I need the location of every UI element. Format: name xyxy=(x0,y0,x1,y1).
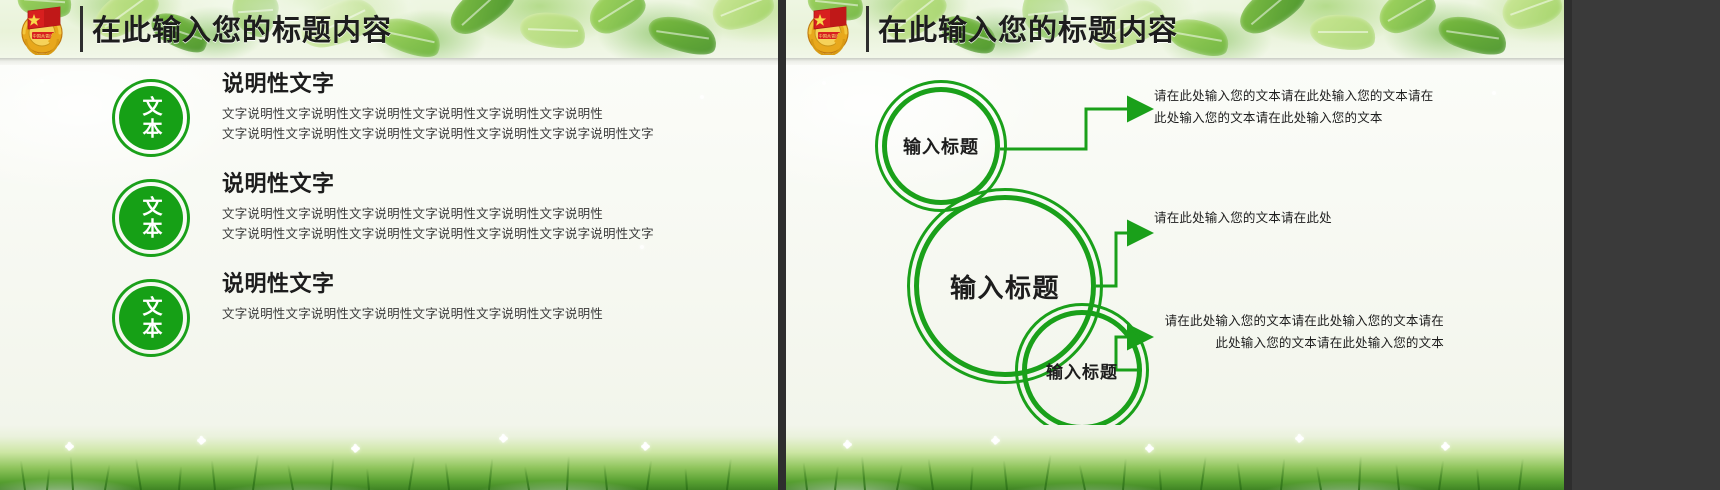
daisy-icon xyxy=(1146,445,1153,452)
slide-left-footer-grass xyxy=(0,425,778,490)
title-separator xyxy=(866,6,869,52)
leaf-icon xyxy=(1307,7,1380,58)
leaf-icon xyxy=(644,6,722,58)
bullet-row-text: 说明性文字 文字说明性文字说明性文字说明性文字说明性文字说明性文字说明性 xyxy=(222,270,722,324)
slide-title: 在此输入您的标题内容 xyxy=(878,8,1178,52)
communist-youth-league-emblem-icon: 中国共青团 xyxy=(10,3,74,55)
daisy-icon xyxy=(66,443,73,450)
daisy-icon xyxy=(198,437,205,444)
badge-disc: 文本 xyxy=(119,86,183,150)
bullet-heading: 说明性文字 xyxy=(222,270,722,300)
bullet-row[interactable]: 文本 说明性文字 文字说明性文字说明性文字说明性文字说明性文字说明性文字说明性 … xyxy=(0,168,778,268)
bullet-body: 文字说明性文字说明性文字说明性文字说明性文字说明性文字说明性 xyxy=(222,304,722,324)
leaf-icon xyxy=(1231,0,1312,40)
badge-disc: 文本 xyxy=(119,186,183,250)
deck-right-edge xyxy=(1564,0,1572,490)
slide-title: 在此输入您的标题内容 xyxy=(92,8,392,52)
ring-label: 输入标题 xyxy=(887,92,995,200)
leaf-icon xyxy=(516,4,589,57)
leaf-icon xyxy=(709,0,776,32)
slide-gutter xyxy=(778,0,786,490)
slide-right-footer-grass xyxy=(786,425,1564,490)
bullet-body: 文字说明性文字说明性文字说明性文字说明性文字说明性文字说明性 文字说明性文字说明… xyxy=(222,204,722,244)
daisy-icon xyxy=(844,441,851,448)
leaf-icon xyxy=(1374,0,1441,37)
bullet-body-line: 文字说明性文字说明性文字说明性文字说明性文字说明性文字说明性 xyxy=(222,304,722,324)
bullet-row[interactable]: 文本 说明性文字 文字说明性文字说明性文字说明性文字说明性文字说明性文字说明性 xyxy=(0,268,778,368)
slide-right[interactable]: 中国共青团 在此输入您的标题内容 输入标 xyxy=(786,0,1564,490)
daisy-icon xyxy=(1442,443,1449,450)
daisy-icon xyxy=(1296,435,1303,442)
bullet-heading: 说明性文字 xyxy=(222,170,722,200)
bullet-heading: 说明性文字 xyxy=(222,70,722,100)
ring-note-text: 请在此处输入您的文本请在此处输入您的文本请在此处输入您的文本请在此处输入您的文本 xyxy=(1154,85,1444,129)
bullet-body: 文字说明性文字说明性文字说明性文字说明性文字说明性文字说明性 文字说明性文字说明… xyxy=(222,104,722,144)
daisy-icon xyxy=(352,445,359,452)
text-badge[interactable]: 文本 xyxy=(112,179,190,257)
bullet-row-text: 说明性文字 文字说明性文字说明性文字说明性文字说明性文字说明性文字说明性 文字说… xyxy=(222,70,722,144)
title-separator xyxy=(80,6,83,52)
bullet-row[interactable]: 文本 说明性文字 文字说明性文字说明性文字说明性文字说明性文字说明性文字说明性 … xyxy=(0,68,778,168)
daisy-icon xyxy=(992,437,999,444)
ring-label: 输入标题 xyxy=(1027,315,1137,425)
bullet-body-line: 文字说明性文字说明性文字说明性文字说明性文字说明性文字说明性 xyxy=(222,204,722,224)
leaf-icon xyxy=(441,0,522,41)
badge-disc: 文本 xyxy=(119,286,183,350)
ring-node[interactable]: 输入标题 xyxy=(1022,310,1142,430)
bullet-row-list: 文本 说明性文字 文字说明性文字说明性文字说明性文字说明性文字说明性文字说明性 … xyxy=(0,68,778,368)
ring-node[interactable]: 输入标题 xyxy=(882,87,1000,205)
daisy-icon xyxy=(642,443,649,450)
leaf-icon xyxy=(1500,0,1564,31)
bullet-row-text: 说明性文字 文字说明性文字说明性文字说明性文字说明性文字说明性文字说明性 文字说… xyxy=(222,170,722,244)
daisy-icon xyxy=(500,435,507,442)
slide-deck: 中国共青团 在此输入您的标题内容 文本 说明性文字 xyxy=(0,0,1720,490)
communist-youth-league-emblem-icon: 中国共青团 xyxy=(796,3,860,55)
text-badge[interactable]: 文本 xyxy=(112,79,190,157)
slide-left[interactable]: 中国共青团 在此输入您的标题内容 文本 说明性文字 xyxy=(0,0,778,490)
badge-label: 文本 xyxy=(140,196,162,240)
badge-label: 文本 xyxy=(140,296,162,340)
leaf-icon xyxy=(1434,6,1512,58)
bullet-body-line: 文字说明性文字说明性文字说明性文字说明性文字说明性文字说字说明性文字 xyxy=(222,224,722,244)
bullet-body-line: 文字说明性文字说明性文字说明性文字说明性文字说明性文字说明性 xyxy=(222,104,722,124)
ring-note-text: 请在此处输入您的文本请在此处 xyxy=(1154,207,1444,229)
bullet-body-line: 文字说明性文字说明性文字说明性文字说明性文字说明性文字说字说明性文字 xyxy=(222,124,722,144)
leaf-icon xyxy=(583,0,651,38)
ring-note-text: 请在此处输入您的文本请在此处输入您的文本请在此处输入您的文本请在此处输入您的文本 xyxy=(1154,310,1444,354)
header-divider xyxy=(786,58,1564,65)
badge-label: 文本 xyxy=(140,96,162,140)
text-badge[interactable]: 文本 xyxy=(112,279,190,357)
header-divider xyxy=(0,58,778,65)
ring-diagram: 输入标题 输入标题 输入标题 请在此处输入您的文本请在此处输入您的文本请在此处输… xyxy=(786,65,1564,425)
